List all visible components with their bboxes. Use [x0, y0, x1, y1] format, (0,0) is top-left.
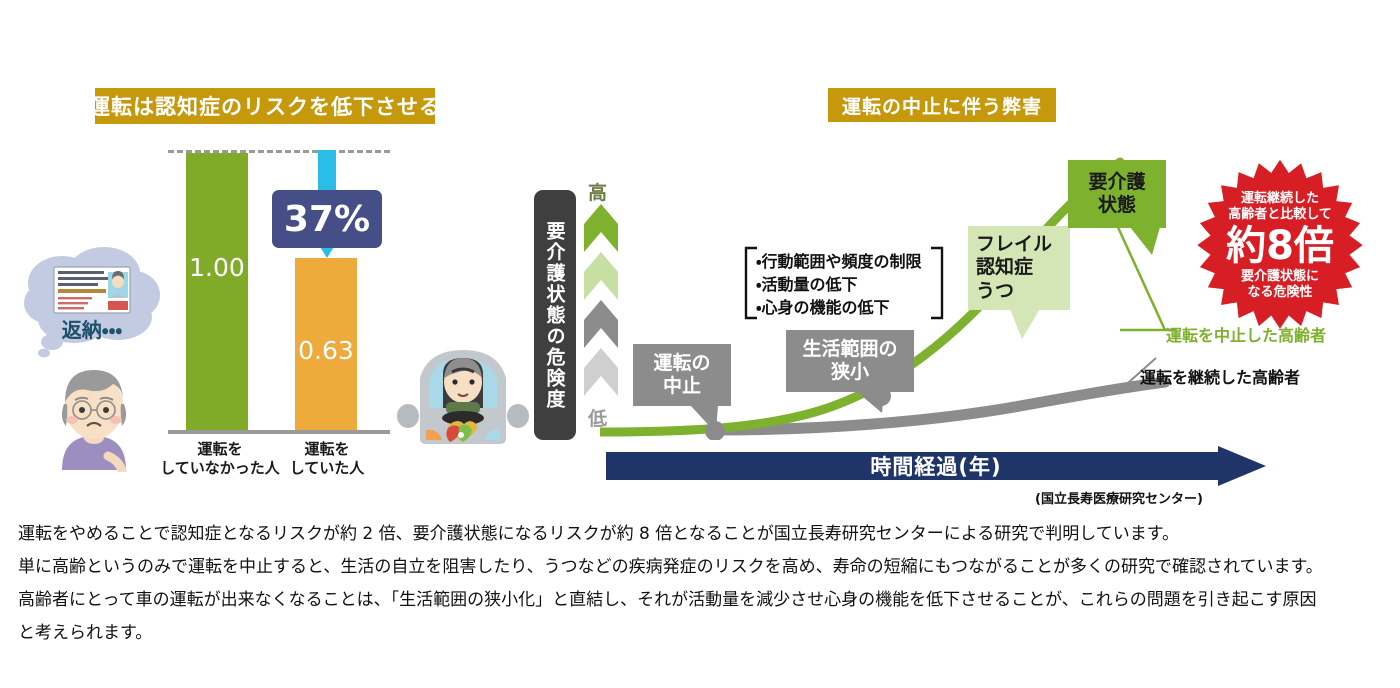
callout-stop-driving-tail [690, 405, 724, 435]
callout-stop-driving: 運転の 中止 [633, 344, 731, 406]
time-axis-label: 時間経過(年) [606, 451, 1266, 481]
bar-no-driving: 1.00 [186, 153, 248, 430]
y-axis-label: 要介護状態の危険度 [534, 190, 576, 440]
risk-multiplier-burst: 運転継続した 高齢者と比較して 約8倍 要介護状態に なる危険性 [1192, 158, 1368, 334]
bracket-annotation-list: ・行動範囲や頻度の制限 ・活動量の低下 ・心身の機能の低下 [756, 250, 944, 320]
callout-frailty-tail [1010, 309, 1046, 341]
elderly-driver-in-car-icon [396, 332, 530, 460]
body-line-4: と考えられます。 [18, 617, 1382, 650]
body-line-3: 高齢者にとって車の運転が出来なくなることは、「生活範囲の狭小化」と直結し、それが… [18, 584, 1382, 617]
burst-line3: 要介護状態に なる危険性 [1241, 269, 1319, 302]
left-panel-title: 運転は認知症のリスクを低下させる [95, 88, 435, 124]
bar-driving: 0.63 [295, 258, 357, 430]
reduction-percent-badge: 37% [272, 190, 382, 248]
legend-continued-driving: 運転を継続した高齢者 [1140, 364, 1300, 388]
thought-bubble-with-license: 返納・・・ [22, 245, 162, 360]
drivers-license-card-icon [54, 267, 130, 313]
bar-chart-baseline [168, 430, 390, 434]
callout-care-needed: 要介護 状態 [1068, 160, 1166, 228]
callout-life-range-tail [856, 391, 890, 415]
infographic-root: 運転は認知症のリスクを低下させる 1.00 0.63 37% 運転を していなか… [0, 0, 1400, 688]
thought-bubble-text: 返納・・・ [62, 318, 123, 342]
body-paragraph: 運転をやめることで認知症となるリスクが約 2 倍、要介護状態になるリスクが約 8… [18, 518, 1382, 651]
bar-value-no-driving: 1.00 [186, 253, 248, 282]
bar-category-no-driving: 運転を していなかった人 [150, 440, 290, 478]
callout-care-needed-tail [1130, 227, 1164, 257]
burst-multiplier: 約8倍 [1226, 226, 1334, 266]
body-line-2: 単に高齢というのみで運転を中止すると、生活の自立を阻害したり、うつなどの疾病発症… [18, 551, 1382, 584]
source-credit: (国立長寿医療研究センター) [1035, 488, 1203, 507]
callout-frailty: フレイル 認知症 うつ [968, 226, 1070, 310]
bar-category-driving: 運転を していた人 [272, 440, 382, 478]
burst-line1: 運転継続した 高齢者と比較して [1228, 191, 1332, 224]
time-axis-arrow: 時間経過(年) [606, 446, 1266, 486]
callout-life-range: 生活範囲の 狭小 [786, 330, 914, 392]
worried-elderly-woman-icon [48, 360, 140, 472]
right-panel-title: 運転の中止に伴う弊害 [828, 88, 1056, 122]
body-line-1: 運転をやめることで認知症となるリスクが約 2 倍、要介護状態になるリスクが約 8… [18, 518, 1382, 551]
bar-value-driving: 0.63 [295, 336, 357, 365]
